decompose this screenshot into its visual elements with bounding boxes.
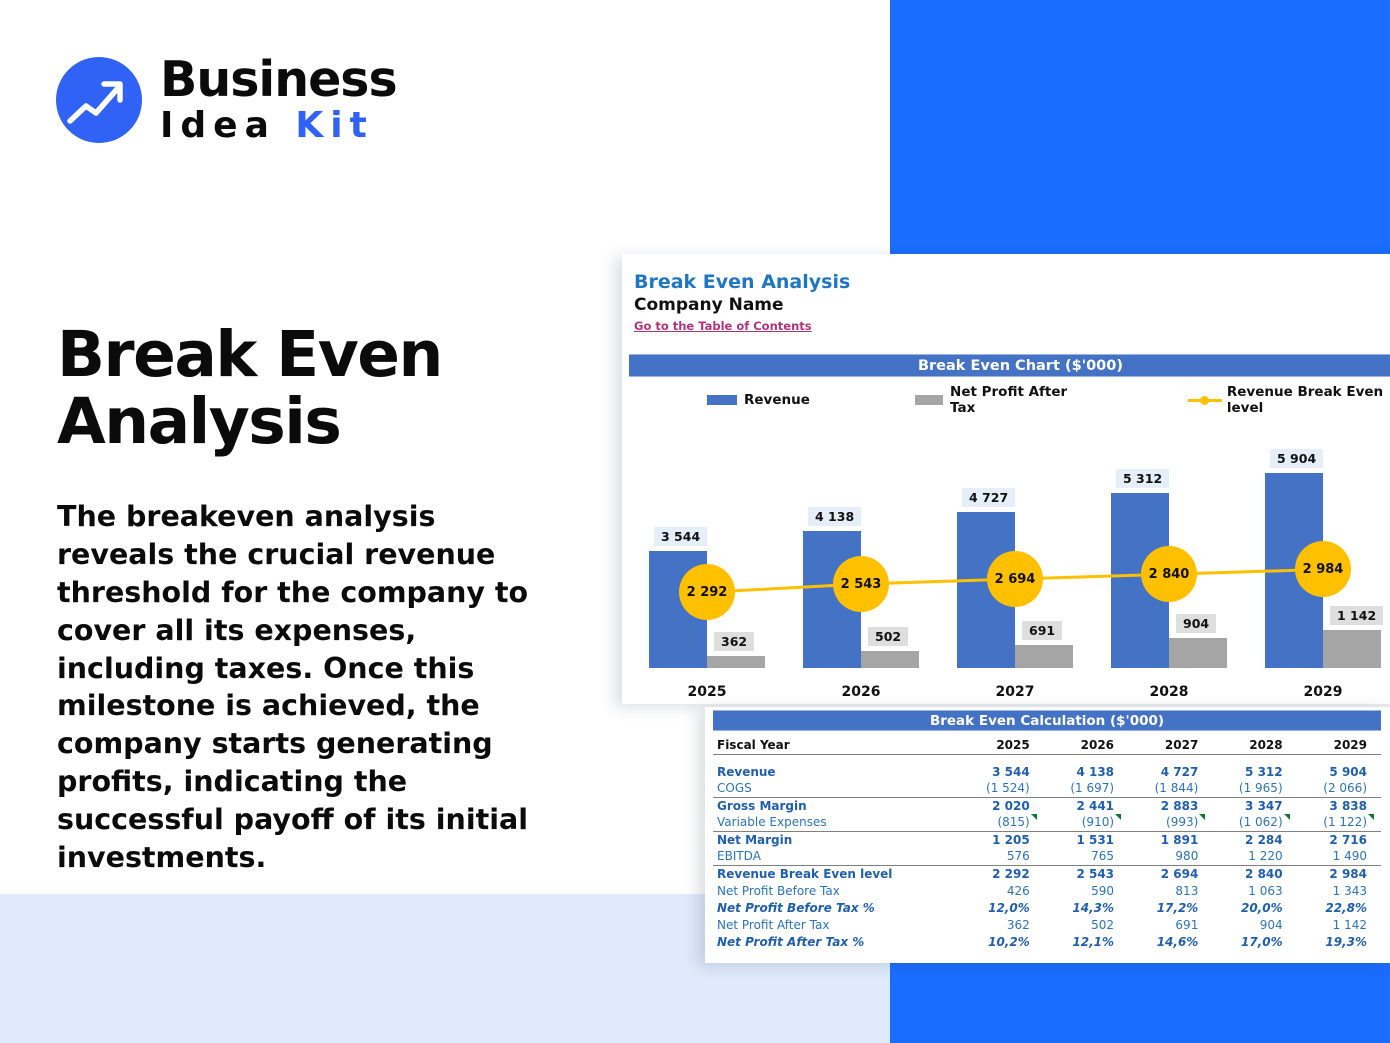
- legend-item-break-even-level[interactable]: Revenue Break Even level: [1188, 384, 1390, 416]
- table-cell: (1 965): [1212, 780, 1296, 797]
- table-cell: 19,3%: [1297, 933, 1381, 950]
- table-cell: 12,0%: [959, 899, 1043, 916]
- table-cell: (1 062): [1212, 814, 1296, 831]
- table-cell: 1 891: [1128, 831, 1212, 848]
- legend-swatch-breakeven-line-icon: [1188, 395, 1220, 405]
- table-cell: 362: [959, 916, 1043, 933]
- brand-logo: Business Idea Kit: [56, 55, 397, 144]
- table-row-label: Revenue Break Even level: [713, 865, 959, 882]
- table-cell: 22,8%: [1297, 899, 1381, 916]
- table-cell: 2 284: [1212, 831, 1296, 848]
- table-row: Net Profit Before Tax %12,0%14,3%17,2%20…: [713, 899, 1381, 916]
- table-header-row: Fiscal Year20252026202720282029: [713, 737, 1381, 754]
- table-row-label: Net Profit After Tax %: [713, 933, 959, 950]
- legend-label-breakeven: Revenue Break Even level: [1227, 384, 1390, 416]
- table-row: EBITDA5767659801 2201 490: [713, 848, 1381, 865]
- table-row-label: Variable Expenses: [713, 814, 959, 831]
- chart-plot-area: 3 54436220254 13850220264 72769120275 31…: [629, 414, 1390, 704]
- table-cell: 1 063: [1212, 882, 1296, 899]
- table-cell: 2 543: [1044, 865, 1128, 882]
- table-cell: 3 838: [1297, 797, 1381, 814]
- chart-title: Break Even Chart ($'000): [629, 354, 1390, 377]
- table-row: Net Margin1 2051 5311 8912 2842 716: [713, 831, 1381, 848]
- table-cell: 765: [1044, 848, 1128, 865]
- break-even-marker[interactable]: 2 840: [1141, 546, 1197, 602]
- table-cell: 2 292: [959, 865, 1043, 882]
- table-cell: 1 343: [1297, 882, 1381, 899]
- page-description: The breakeven analysis reveals the cruci…: [57, 498, 547, 877]
- table-column-header: 2026: [1044, 737, 1128, 754]
- table-row: Net Profit After Tax3625026919041 142: [713, 916, 1381, 933]
- table-cell: 1 142: [1297, 916, 1381, 933]
- table-row: Revenue3 5444 1384 7275 3125 904: [713, 763, 1381, 780]
- table-cell: 2 020: [959, 797, 1043, 814]
- slide-canvas: Business Idea Kit Break Even Analysis Th…: [0, 0, 1390, 1043]
- table-cell: 502: [1044, 916, 1128, 933]
- chart-legend: Revenue Net Profit After Tax Revenue Bre…: [629, 384, 1390, 416]
- table-cell: 980: [1128, 848, 1212, 865]
- table-cell: 3 347: [1212, 797, 1296, 814]
- table-cell: 5 312: [1212, 763, 1296, 780]
- table-cell: 2 441: [1044, 797, 1128, 814]
- table-cell: 10,2%: [959, 933, 1043, 950]
- table-cell: 5 904: [1297, 763, 1381, 780]
- table-cell: 2 694: [1128, 865, 1212, 882]
- table-cell: 904: [1212, 916, 1296, 933]
- brand-idea-text: Idea: [160, 105, 295, 146]
- brand-name-line2: Idea Kit: [160, 108, 397, 144]
- page-title: Break Even Analysis: [57, 322, 577, 456]
- growth-arrow-icon: [56, 57, 142, 143]
- table-row: Net Profit Before Tax4265908131 0631 343: [713, 882, 1381, 899]
- table-row: Revenue Break Even level2 2922 5432 6942…: [713, 865, 1381, 882]
- table-of-contents-link[interactable]: Go to the Table of Contents: [634, 319, 812, 333]
- chart-panel: Break Even Analysis Company Name Go to t…: [622, 254, 1390, 704]
- table-cell: 2 840: [1212, 865, 1296, 882]
- company-name: Company Name: [634, 295, 1390, 315]
- table-row-label: Net Profit After Tax: [713, 916, 959, 933]
- table-row-header-label: Fiscal Year: [713, 737, 959, 754]
- table-cell: 813: [1128, 882, 1212, 899]
- table-cell: 1 490: [1297, 848, 1381, 865]
- legend-label-revenue: Revenue: [744, 392, 810, 408]
- table-cell: 17,0%: [1212, 933, 1296, 950]
- table-cell: 3 544: [959, 763, 1043, 780]
- table-cell: 14,3%: [1044, 899, 1128, 916]
- table-cell: 691: [1128, 916, 1212, 933]
- legend-label-npat: Net Profit After Tax: [950, 384, 1088, 416]
- table-cell: 1 220: [1212, 848, 1296, 865]
- table-cell: 20,0%: [1212, 899, 1296, 916]
- legend-item-net-profit-after-tax[interactable]: Net Profit After Tax: [915, 384, 1088, 416]
- chart-panel-header: Break Even Analysis Company Name Go to t…: [622, 254, 1390, 335]
- table-cell: (1 697): [1044, 780, 1128, 797]
- break-even-marker[interactable]: 2 543: [833, 556, 889, 612]
- table-row-label: COGS: [713, 780, 959, 797]
- table-cell: 12,1%: [1044, 933, 1128, 950]
- table-body: Revenue3 5444 1384 7275 3125 904COGS(1 5…: [713, 754, 1381, 950]
- table-column-header: 2029: [1297, 737, 1381, 754]
- table-row-label: Revenue: [713, 763, 959, 780]
- table-row-label: Net Profit Before Tax: [713, 882, 959, 899]
- table-row: Variable Expenses(815)(910)(993)(1 062)(…: [713, 814, 1381, 831]
- break-even-marker[interactable]: 2 694: [987, 551, 1043, 607]
- table-row-label: Net Margin: [713, 831, 959, 848]
- table-cell: (1 122): [1297, 814, 1381, 831]
- table-spacer-row: [713, 754, 1381, 763]
- break-even-table: Fiscal Year20252026202720282029 Revenue3…: [713, 737, 1381, 950]
- table-cell: 17,2%: [1128, 899, 1212, 916]
- table-title: Break Even Calculation ($'000): [713, 710, 1381, 731]
- legend-swatch-npat-icon: [915, 395, 943, 405]
- table-row-label: Gross Margin: [713, 797, 959, 814]
- table-cell: (2 066): [1297, 780, 1381, 797]
- table-cell: (993): [1128, 814, 1212, 831]
- table-cell: 2 984: [1297, 865, 1381, 882]
- break-even-marker[interactable]: 2 292: [679, 564, 735, 620]
- table-row: Net Profit After Tax %10,2%12,1%14,6%17,…: [713, 933, 1381, 950]
- table-head: Fiscal Year20252026202720282029: [713, 737, 1381, 754]
- table-cell: 4 727: [1128, 763, 1212, 780]
- legend-item-revenue[interactable]: Revenue: [707, 392, 810, 408]
- table-column-header: 2028: [1212, 737, 1296, 754]
- table-row: COGS(1 524)(1 697)(1 844)(1 965)(2 066): [713, 780, 1381, 797]
- sheet-title: Break Even Analysis: [634, 272, 1390, 294]
- table-row: Gross Margin2 0202 4412 8833 3473 838: [713, 797, 1381, 814]
- table-row-label: EBITDA: [713, 848, 959, 865]
- brand-kit-text: Kit: [295, 105, 373, 146]
- table-cell: 590: [1044, 882, 1128, 899]
- table-cell: (1 524): [959, 780, 1043, 797]
- table-cell: 2 716: [1297, 831, 1381, 848]
- table-cell: 2 883: [1128, 797, 1212, 814]
- table-cell: 14,6%: [1128, 933, 1212, 950]
- table-cell: (1 844): [1128, 780, 1212, 797]
- background-block-top-right: [890, 0, 1390, 258]
- brand-name-line1: Business: [160, 55, 397, 104]
- table-cell: 576: [959, 848, 1043, 865]
- table-cell: (815): [959, 814, 1043, 831]
- table-cell: 426: [959, 882, 1043, 899]
- table-column-header: 2027: [1128, 737, 1212, 754]
- table-cell: 1 531: [1044, 831, 1128, 848]
- table-column-header: 2025: [959, 737, 1043, 754]
- table-cell: 4 138: [1044, 763, 1128, 780]
- calculation-panel: Break Even Calculation ($'000) Fiscal Ye…: [705, 707, 1390, 963]
- legend-swatch-revenue-icon: [707, 395, 737, 405]
- table-row-label: Net Profit Before Tax %: [713, 899, 959, 916]
- table-cell: 1 205: [959, 831, 1043, 848]
- table-cell: (910): [1044, 814, 1128, 831]
- background-block-bottom-right: [890, 963, 1390, 1043]
